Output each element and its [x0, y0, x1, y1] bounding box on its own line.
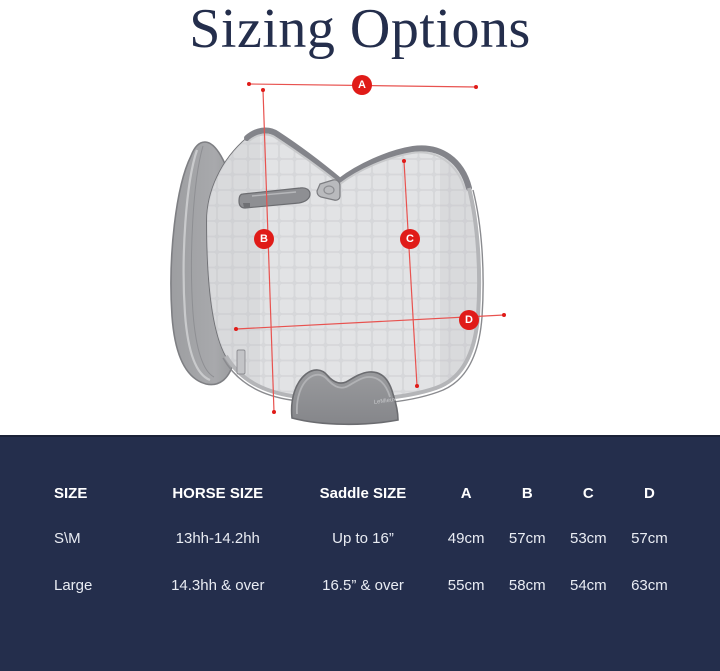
saddle-pad-body: LeMieux: [200, 126, 500, 435]
title-area: Sizing Options: [0, 0, 720, 66]
cell-b: 57cm: [497, 530, 558, 577]
column-header-saddle-size: Saddle SIZE: [290, 485, 435, 530]
cell-size: S\M: [40, 530, 145, 577]
cell-a: 55cm: [436, 577, 497, 624]
column-header-a: A: [436, 485, 497, 530]
marker-label-a: A: [358, 80, 366, 91]
column-header-d: D: [619, 485, 680, 530]
saddle-pad-illustration: LeMieux: [0, 66, 720, 435]
cell-d: 57cm: [619, 530, 680, 577]
sizing-options-page: Sizing Options: [0, 0, 720, 671]
measurement-marker-c: C: [400, 229, 420, 249]
diagram-area: LeMieux: [0, 66, 720, 435]
cell-b: 58cm: [497, 577, 558, 624]
column-header-b: B: [497, 485, 558, 530]
cell-c: 54cm: [558, 577, 619, 624]
side-label-tag: [237, 350, 245, 374]
marker-label-d: D: [465, 315, 473, 326]
cell-horse-size: 14.3hh & over: [145, 577, 290, 624]
cell-saddle-size: Up to 16”: [290, 530, 435, 577]
size-chart-table: SIZE HORSE SIZE Saddle SIZE A B C D S\M …: [40, 485, 680, 624]
column-header-c: C: [558, 485, 619, 530]
column-header-size: SIZE: [40, 485, 145, 530]
cell-saddle-size: 16.5” & over: [290, 577, 435, 624]
measurement-marker-d: D: [459, 310, 479, 330]
table-row: S\M 13hh-14.2hh Up to 16” 49cm 57cm 53cm…: [40, 530, 680, 577]
table-row: Large 14.3hh & over 16.5” & over 55cm 58…: [40, 577, 680, 624]
table-header-row: SIZE HORSE SIZE Saddle SIZE A B C D: [40, 485, 680, 530]
page-title: Sizing Options: [189, 0, 530, 58]
measurement-marker-a: A: [352, 75, 372, 95]
marker-label-b: B: [260, 234, 268, 245]
cell-size: Large: [40, 577, 145, 624]
cell-a: 49cm: [436, 530, 497, 577]
column-header-horse-size: HORSE SIZE: [145, 485, 290, 530]
cell-horse-size: 13hh-14.2hh: [145, 530, 290, 577]
marker-label-c: C: [406, 234, 414, 245]
cell-d: 63cm: [619, 577, 680, 624]
measurement-marker-b: B: [254, 229, 274, 249]
size-chart-panel: SIZE HORSE SIZE Saddle SIZE A B C D S\M …: [0, 435, 720, 671]
cell-c: 53cm: [558, 530, 619, 577]
